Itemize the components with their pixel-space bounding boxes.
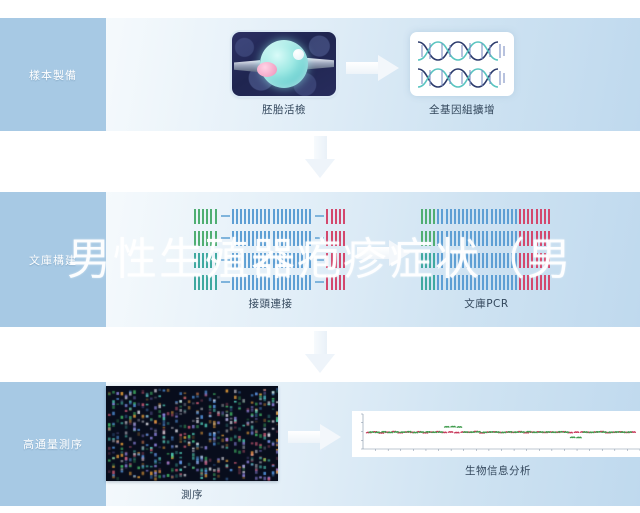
band-sample-preparation: 樣本製備 胚胎活檢 <box>0 18 640 131</box>
adapter-link-icon <box>221 231 230 246</box>
band-label-library-construction: 文庫構建 <box>0 192 106 327</box>
band-body-library-construction: 接頭連接 <box>106 192 640 327</box>
adapter-link-icon <box>315 231 324 246</box>
biopsy-needle-icon <box>304 58 334 70</box>
stage-caption-library-pcr: 文庫PCR <box>464 296 508 311</box>
adapter-link-icon <box>221 253 230 268</box>
embryo-biopsy-image <box>232 32 336 96</box>
band-body-high-throughput-sequencing: 測序 生物信息分析 <box>106 382 640 506</box>
adapter-link-icon <box>315 209 324 224</box>
strand-row <box>194 231 347 246</box>
strand-row <box>421 253 552 268</box>
stage-adapter-ligation: 接頭連接 <box>194 209 347 311</box>
stage-library-pcr: 文庫PCR <box>421 209 552 311</box>
arrow-down-icon-2 <box>305 331 335 373</box>
stage-caption-bioinformatics-analysis: 生物信息分析 <box>465 463 531 478</box>
dna-helix-image <box>410 32 514 96</box>
arrow-right-icon-1 <box>346 55 400 81</box>
arrow-down-icon-1 <box>305 136 335 178</box>
stage-caption-adapter-ligation: 接頭連接 <box>249 296 293 311</box>
stage-caption-embryo-biopsy: 胚胎活檢 <box>262 102 306 117</box>
stage-caption-sequencing: 測序 <box>181 487 203 502</box>
strand-row <box>194 253 347 268</box>
arrow-right-icon-3 <box>288 424 342 450</box>
band-library-construction: 文庫構建 <box>0 192 640 327</box>
strand-row <box>421 209 552 224</box>
band-label-high-throughput-sequencing: 高通量測序 <box>0 382 106 506</box>
workflow-diagram: 樣本製備 胚胎活檢 <box>0 0 640 513</box>
dna-strand-adapter-image <box>194 209 347 290</box>
stage-sequencing: 測序 <box>106 386 278 502</box>
strand-row <box>194 275 347 290</box>
dna-strand-pcr-image <box>421 209 552 290</box>
stage-caption-whole-genome-amplification: 全基因組擴增 <box>429 102 495 117</box>
band-body-sample-preparation: 胚胎活檢 <box>106 18 640 131</box>
polar-body-shape <box>293 49 304 60</box>
adapter-link-icon <box>221 209 230 224</box>
strand-row <box>194 209 347 224</box>
band-high-throughput-sequencing: 高通量測序 測序 生物信息分析 <box>0 382 640 506</box>
sequencing-gel-image <box>106 386 278 481</box>
strand-row <box>421 231 552 246</box>
cnv-plot-image <box>352 411 640 457</box>
stage-bioinformatics-analysis: 生物信息分析 <box>352 411 640 478</box>
arrow-right-icon-2 <box>357 240 411 266</box>
adapter-link-icon <box>315 275 324 290</box>
stage-embryo-biopsy: 胚胎活檢 <box>232 32 336 117</box>
adapter-link-icon <box>221 275 230 290</box>
holding-pipette-icon <box>234 60 260 72</box>
band-label-sample-preparation: 樣本製備 <box>0 18 106 131</box>
stage-whole-genome-amplification: 全基因組擴增 <box>410 32 514 117</box>
adapter-link-icon <box>315 253 324 268</box>
strand-row <box>421 275 552 290</box>
